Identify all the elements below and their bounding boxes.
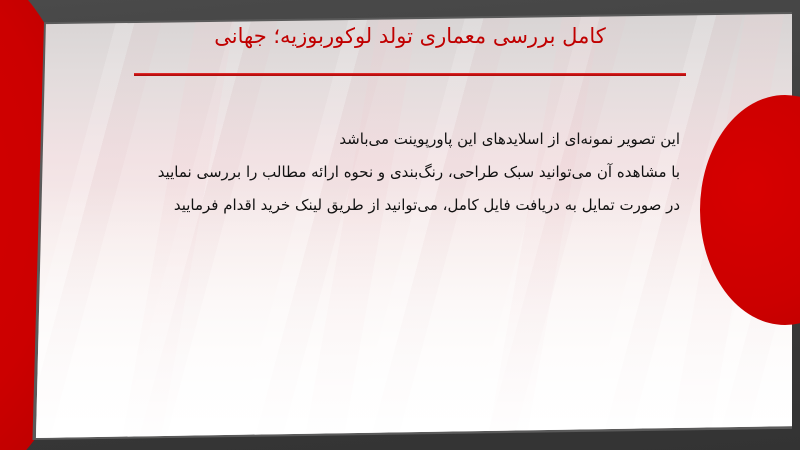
diagonal-ribbon-texture bbox=[26, 14, 792, 438]
slide-body-text: این تصویر نمونه‌ای از اسلایدهای این پاور… bbox=[120, 123, 680, 222]
panel-white-fade-overlay bbox=[26, 14, 792, 438]
presentation-slide: کامل بررسی معماری تولد لوکوربوزیه؛ جهانی… bbox=[0, 0, 800, 450]
content-panel bbox=[26, 14, 792, 438]
body-line-3: در صورت تمایل به دریافت فایل کامل، می‌تو… bbox=[120, 189, 680, 222]
body-line-2: با مشاهده آن می‌توانید سبک طراحی، رنگ‌بن… bbox=[120, 156, 680, 189]
slide-title: کامل بررسی معماری تولد لوکوربوزیه؛ جهانی bbox=[130, 22, 690, 50]
body-line-1: این تصویر نمونه‌ای از اسلایدهای این پاور… bbox=[120, 123, 680, 156]
title-underline-rule bbox=[134, 73, 686, 76]
diagonal-ribbon-texture-secondary bbox=[26, 14, 792, 438]
